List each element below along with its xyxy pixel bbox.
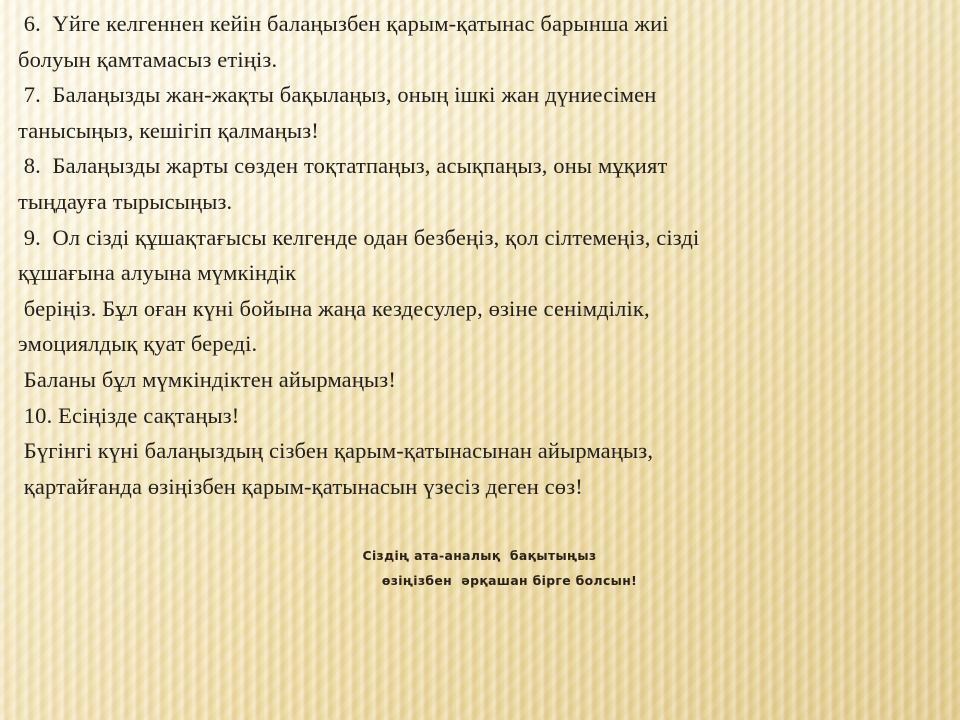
body-line-12: 10. Есіңізде сақтаңыз! [18,398,942,434]
body-line-7: 9. Ол сізді құшақтағысы келгенде одан бе… [18,220,942,256]
body-line-13: Бүгінгі күні балаңыздың сізбен қарым-қат… [18,433,942,469]
body-line-5: 8. Балаңызды жарты сөзден тоқтатпаңыз, а… [18,148,942,184]
body-line-8: құшағына алуына мүмкіндік [18,255,942,291]
closing-line-1: Сіздің ата-аналық бақытыңыз [0,543,960,568]
body-line-14: қартайғанда өзіңізбен қарым-қатынасын үз… [18,469,942,505]
body-line-10: эмоциялдық қуат береді. [18,326,942,362]
body-line-6: тыңдауға тырысыңыз. [18,184,942,220]
body-line-9: беріңіз. Бұл оған күні бойына жаңа кезде… [18,291,942,327]
body-line-11: Баланы бұл мүмкіндіктен айырмаңыз! [18,362,942,398]
body-text-block: 6. Үйге келгеннен кейін балаңызбен қарым… [0,0,960,504]
body-line-4: танысыңыз, кешігіп қалмаңыз! [18,113,942,149]
slide-canvas: 6. Үйге келгеннен кейін балаңызбен қарым… [0,0,960,720]
body-line-3: 7. Балаңызды жан-жақты бақылаңыз, оның і… [18,77,942,113]
closing-text-block: Сіздің ата-аналық бақытыңыз өзіңізбен әр… [0,543,960,593]
body-line-1: 6. Үйге келгеннен кейін балаңызбен қарым… [18,6,942,42]
closing-line-2: өзіңізбен әрқашан бірге болсын! [59,568,960,593]
body-line-2: болуын қамтамасыз етіңіз. [18,42,942,78]
